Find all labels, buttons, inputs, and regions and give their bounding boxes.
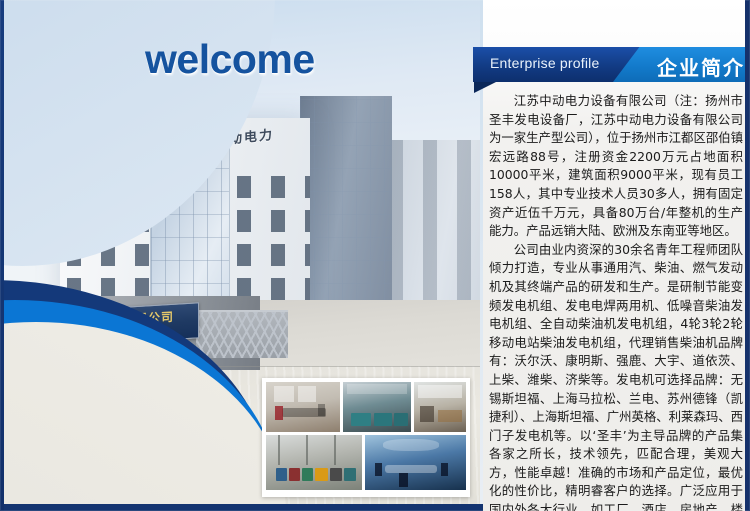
banner-chinese-label: 企业简介 xyxy=(657,52,745,81)
hero-image-area: 中动电力 江苏中动电力设备有限公司 Zhongdong Power Equipm… xyxy=(0,0,483,511)
photo-warehouse xyxy=(266,435,362,490)
left-accent-bar xyxy=(0,0,4,511)
section-header-banner: Enterprise profile 企业简介 xyxy=(473,47,745,82)
photo-open-office xyxy=(414,382,466,432)
profile-paragraph-2: 公司由业内资深的30余名青年工程师团队倾力打造，专业从事通用汽、柴油、燃气发动机… xyxy=(489,241,743,511)
banner-english-label: Enterprise profile xyxy=(490,55,599,71)
side-tower-building xyxy=(300,96,392,330)
welcome-headline: welcome xyxy=(145,36,315,83)
factory-gate xyxy=(196,310,288,358)
photo-conference-room xyxy=(365,435,466,490)
company-profile-banner: 中动电力 江苏中动电力设备有限公司 Zhongdong Power Equipm… xyxy=(0,0,750,511)
photo-office-meeting xyxy=(266,382,340,432)
photo-gallery-strip xyxy=(262,378,470,497)
company-profile-copy: 江苏中动电力设备有限公司（注：扬州市圣丰发电设备厂，江苏中动电力设备有限公司为一… xyxy=(489,92,743,492)
photo-generator-assembly xyxy=(343,382,411,432)
profile-paragraph-1: 江苏中动电力设备有限公司（注：扬州市圣丰发电设备厂，江苏中动电力设备有限公司为一… xyxy=(489,92,743,241)
bottom-accent-bar xyxy=(0,504,483,511)
